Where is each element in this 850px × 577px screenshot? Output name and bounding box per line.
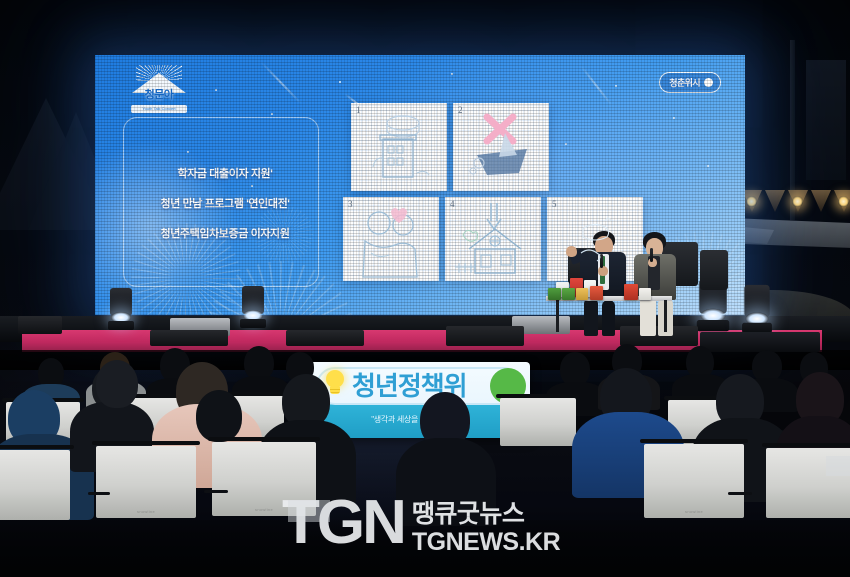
snack-package — [548, 288, 561, 300]
blank-sketch-icon — [547, 197, 643, 281]
snack-package — [576, 288, 588, 300]
slide-text-line-3: 청년주택임차보증금 이자지원 — [160, 225, 289, 241]
slide-text-line-1: 학자금 대출이자 지원' — [177, 165, 272, 181]
table-leg — [556, 300, 559, 332]
slide-logo-ribbon: Youth Talk Concert — [131, 105, 187, 113]
audience-member — [244, 346, 274, 380]
storyboard-card: 1 — [351, 103, 447, 191]
circle-dot-icon — [704, 78, 713, 87]
house-with-arrow-icon — [445, 197, 541, 281]
stage-monitor-speaker — [446, 326, 524, 346]
card-number: 1 — [356, 105, 361, 115]
slide-text-lines: 학자금 대출이자 지원' 청년 만남 프로그램 '연인대전' 청년주택임차보증금… — [115, 165, 335, 241]
stage-monitor-speaker — [286, 330, 364, 346]
watermark-accent-block — [826, 456, 850, 476]
audience-chair: snowline — [644, 444, 744, 518]
snack-package — [590, 286, 603, 300]
moving-head-light — [108, 288, 134, 330]
moving-head-light — [240, 286, 266, 328]
snack-package — [562, 288, 575, 300]
stage-monitor-speaker — [18, 316, 62, 334]
slide-logo-text: 청문아 — [145, 86, 174, 102]
snack-package — [624, 284, 638, 300]
bunting-string-lights — [742, 190, 850, 224]
storyboard-card: 4 — [445, 197, 541, 281]
card-number: 2 — [458, 105, 463, 115]
moving-head-light — [742, 285, 772, 333]
audience-chair — [0, 450, 70, 520]
slide-badge: 청춘위시 — [659, 72, 721, 93]
chair-brand-label: snowline — [255, 507, 273, 512]
stage-chair — [700, 250, 728, 290]
audience-member-front — [196, 390, 242, 442]
storyboard-card: 2 — [453, 103, 549, 191]
card-number: 3 — [348, 199, 353, 209]
event-photo: 청문아 Youth Talk Concert 청춘위시 학자금 대출이자 지원'… — [0, 0, 850, 577]
slide-badge-label: 청춘위시 — [669, 76, 700, 89]
snack-package — [639, 288, 651, 300]
storyboard-card: 3 — [343, 197, 439, 281]
watermark-korean: 땡큐굿뉴스 — [412, 500, 560, 528]
audience-member-front — [96, 360, 138, 408]
slide-text-line-2: 청년 만남 프로그램 '연인대전' — [160, 195, 289, 211]
banner-subtitle: "생각과 세상을 바꾸는 목소리" — [308, 414, 530, 425]
couple-hug-icon — [343, 197, 439, 281]
distant-building — [806, 60, 846, 180]
table-leg — [664, 300, 667, 332]
card-number: 5 — [552, 199, 557, 209]
crossed-out-boat-icon — [453, 103, 549, 191]
slide-logo: 청문아 Youth Talk Concert — [123, 67, 195, 111]
building-with-coins-icon — [351, 103, 447, 191]
storyboard-card: 5 — [547, 197, 643, 281]
chair-brand-label: snowline — [137, 509, 155, 514]
audience-chair — [500, 398, 576, 446]
watermark-accent-block — [288, 500, 330, 522]
audience-chair: snowline — [96, 446, 196, 518]
microphone-icon — [650, 248, 653, 262]
watermark-url: TGNEWS.KR — [412, 528, 560, 556]
stage-monitor-speaker — [150, 330, 228, 346]
audience-member — [560, 352, 590, 386]
tgn-watermark: TGN 땡큐굿뉴스 TGNEWS.KR — [282, 492, 622, 570]
card-number: 4 — [450, 199, 455, 209]
event-banner-sign: 청년정책위 "생각과 세상을 바꾸는 목소리" — [308, 362, 530, 438]
chair-brand-label: snowline — [685, 509, 703, 514]
equipment-case — [700, 332, 820, 352]
